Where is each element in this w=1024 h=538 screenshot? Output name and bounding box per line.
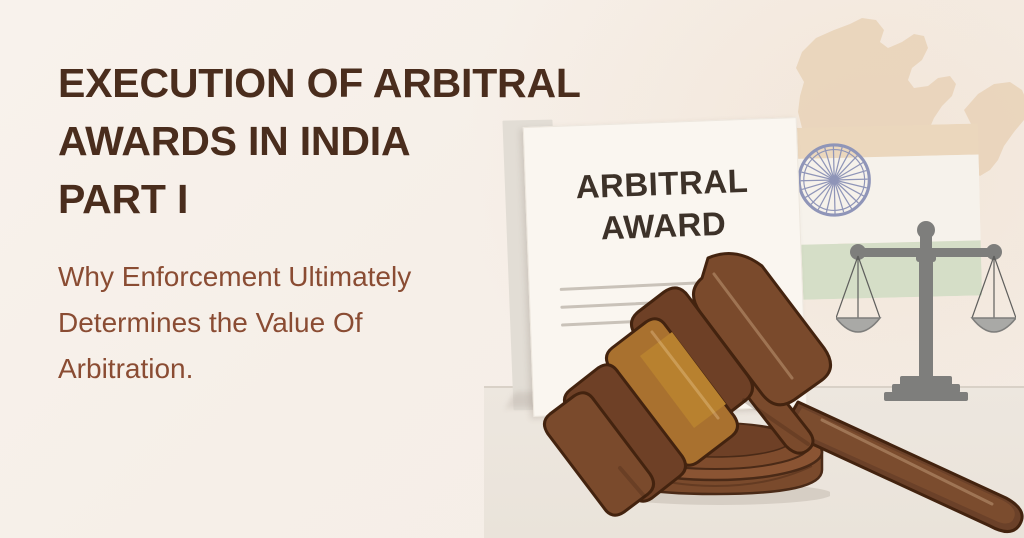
page-subtitle: Why Enforcement Ultimately Determines th… bbox=[58, 254, 528, 392]
subtitle-line-1: Why Enforcement Ultimately bbox=[58, 254, 528, 300]
subtitle-line-2: Determines the Value Of bbox=[58, 300, 528, 346]
headline-line-2: AWARDS IN INDIA bbox=[58, 112, 538, 170]
page-title: EXECUTION OF ARBITRAL AWARDS IN INDIA PA… bbox=[58, 54, 538, 228]
subtitle-line-3: Arbitration. bbox=[58, 346, 528, 392]
text-column: EXECUTION OF ARBITRAL AWARDS IN INDIA PA… bbox=[58, 54, 538, 392]
ashoka-chakra-icon bbox=[794, 140, 874, 220]
document-title: ARBITRAL AWARD bbox=[525, 158, 800, 252]
judge-gavel-icon bbox=[586, 252, 1024, 538]
headline-line-3: PART I bbox=[58, 170, 538, 228]
headline-line-1: EXECUTION OF ARBITRAL bbox=[58, 54, 538, 112]
arbitral-awards-banner: ARBITRAL AWARD bbox=[0, 0, 1024, 538]
document-title-line-2: AWARD bbox=[527, 200, 800, 252]
